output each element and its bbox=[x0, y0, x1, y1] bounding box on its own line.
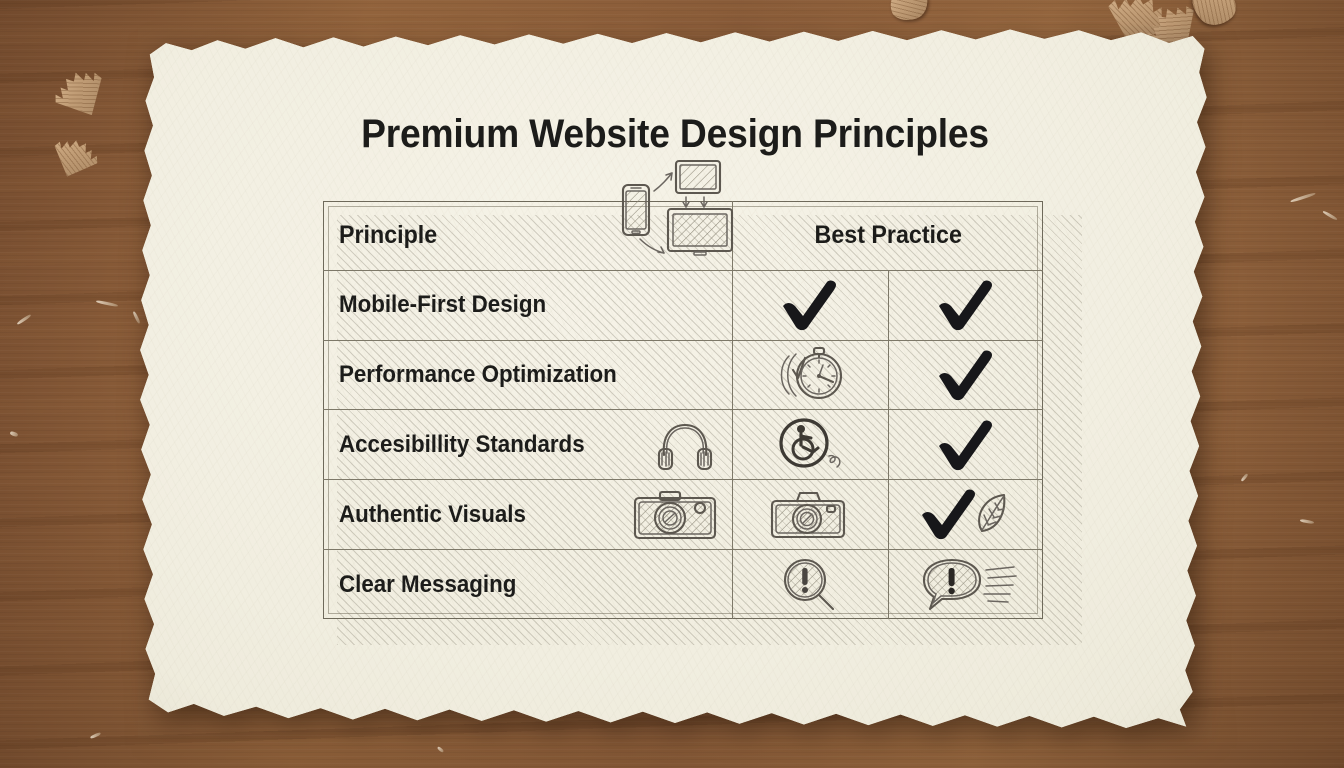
principle-label: Mobile-First Design bbox=[339, 291, 546, 319]
check-mark-leaf-icon bbox=[889, 480, 1044, 549]
stopwatch-icon bbox=[733, 341, 889, 410]
principle-label: Performance Optimization bbox=[339, 361, 617, 389]
table-row: Clear Messaging bbox=[323, 550, 1043, 619]
check-mark-icon bbox=[733, 271, 889, 340]
column-header-best-practice: Best Practice bbox=[814, 221, 961, 250]
speech-bubble-exclamation-icon bbox=[889, 550, 1044, 619]
check-mark-icon bbox=[889, 341, 1044, 410]
principle-label: Accesibillity Standards bbox=[339, 431, 585, 459]
table-row: Performance Optimization bbox=[323, 341, 1043, 411]
responsive-devices-icon bbox=[614, 157, 744, 263]
header-cell-principle: Principle bbox=[323, 201, 733, 270]
torn-paper-sheet: Premium Website Design Principles Princi… bbox=[138, 26, 1212, 738]
check-mark-icon bbox=[889, 271, 1044, 340]
principles-table: Principle bbox=[323, 201, 1068, 639]
table-header-row: Principle bbox=[323, 201, 1043, 271]
page-title: Premium Website Design Principles bbox=[176, 112, 1175, 157]
table-row: Accesibillity Standards bbox=[323, 410, 1043, 480]
row-label-cell: Accesibillity Standards bbox=[323, 410, 733, 479]
table-row: Authentic Visuals bbox=[323, 480, 1043, 550]
row-label-cell: Mobile-First Design bbox=[323, 271, 733, 340]
headphones-icon bbox=[656, 419, 714, 471]
magnifier-exclamation-icon bbox=[733, 550, 889, 619]
check-mark-icon bbox=[889, 410, 1044, 479]
principle-label: Authentic Visuals bbox=[339, 501, 526, 529]
camera-icon bbox=[733, 480, 889, 549]
camera-icon bbox=[630, 484, 722, 546]
row-label-cell: Clear Messaging bbox=[323, 550, 733, 619]
principle-label: Clear Messaging bbox=[339, 571, 516, 599]
row-label-cell: Performance Optimization bbox=[323, 341, 733, 410]
column-header-principle: Principle bbox=[339, 221, 437, 250]
row-label-cell: Authentic Visuals bbox=[323, 480, 733, 549]
table-row: Mobile-First Design bbox=[323, 271, 1043, 341]
wheelchair-accessibility-icon bbox=[733, 410, 889, 479]
header-cell-best-practice: Best Practice bbox=[733, 201, 1043, 270]
